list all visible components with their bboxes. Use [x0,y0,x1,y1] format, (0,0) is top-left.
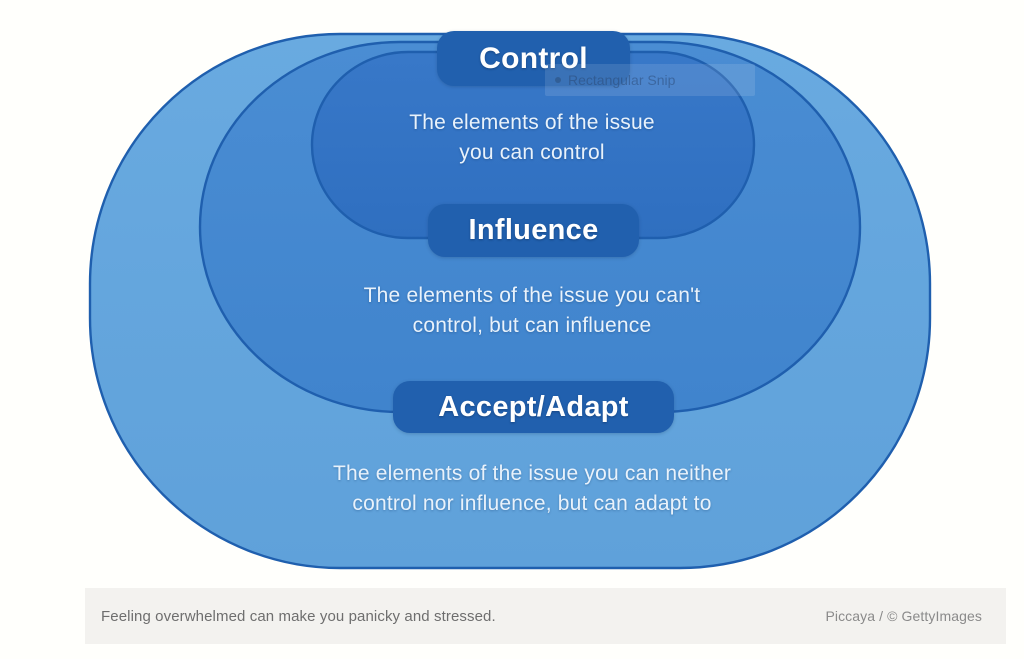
caption-bar: Feeling overwhelmed can make you panicky… [85,588,1006,644]
screenshot-stage: The elements of the issue you can contro… [0,0,1024,659]
badge-control: Control [437,31,630,86]
badge-accept-adapt: Accept/Adapt [393,381,674,433]
badge-influence: Influence [428,204,639,257]
nested-rings-diagram [0,0,1024,590]
caption-credit: Piccaya / © GettyImages [825,608,982,624]
caption-text: Feeling overwhelmed can make you panicky… [101,608,496,625]
